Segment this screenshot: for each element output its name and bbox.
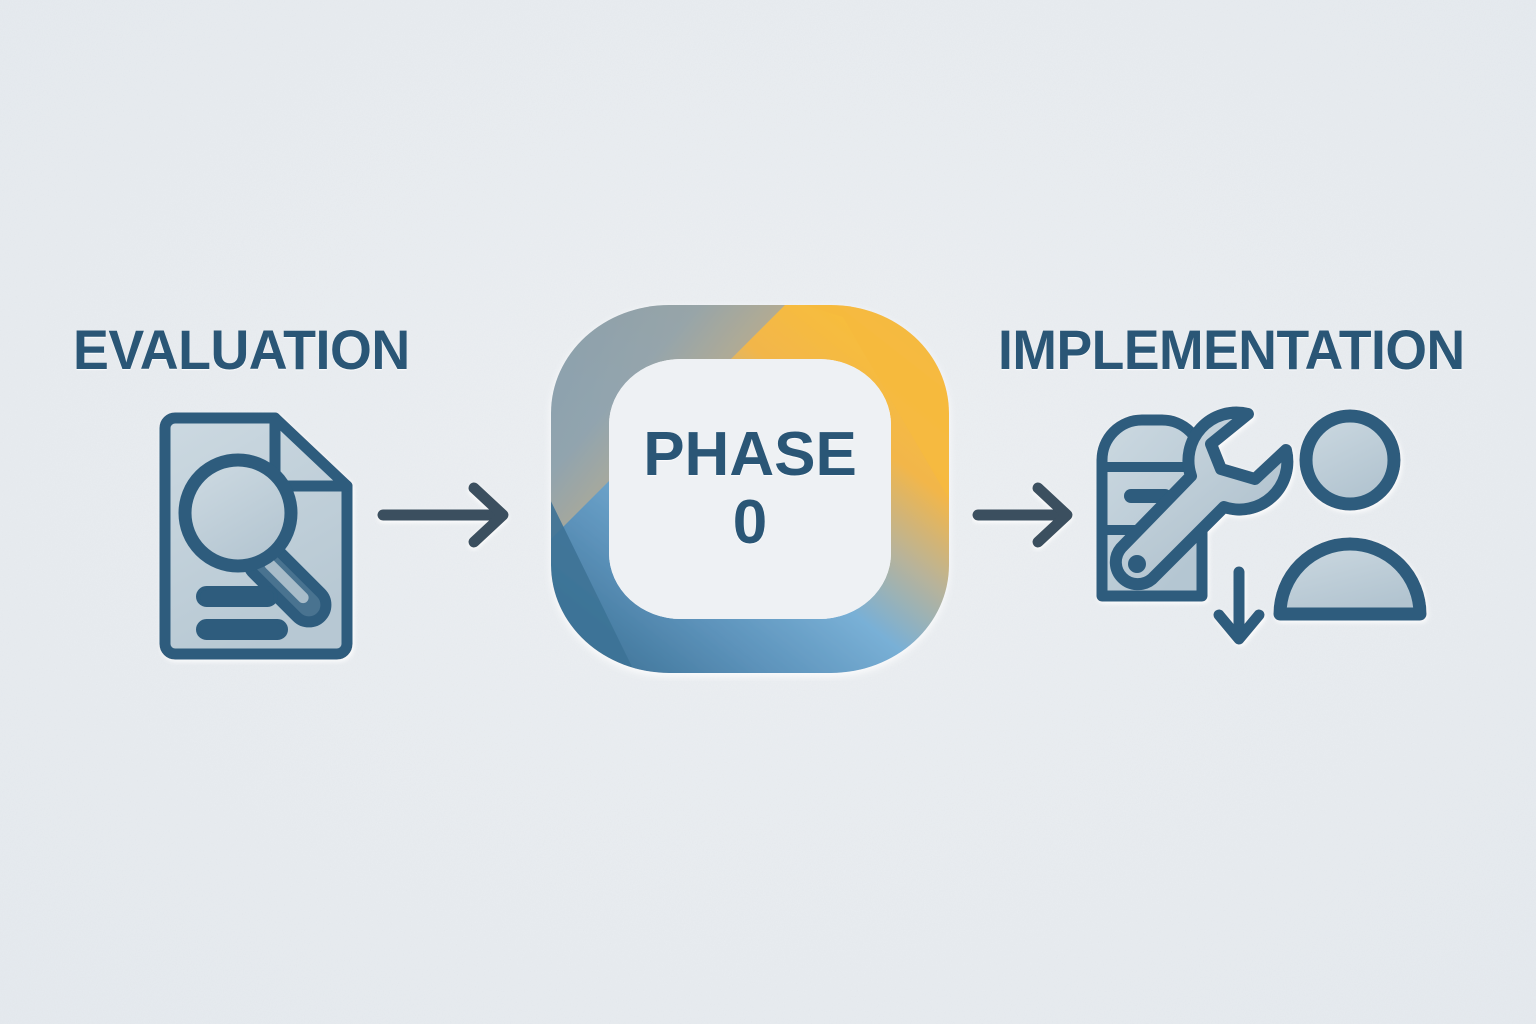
text-line <box>198 621 286 638</box>
server-wrench-user-icon <box>1088 400 1460 672</box>
document-magnifier-icon <box>150 400 370 665</box>
stage-label-implementation: IMPLEMENTATION <box>998 322 1465 378</box>
text-line <box>198 588 276 605</box>
down-arrow-icon <box>1219 572 1259 639</box>
arrow-right-icon <box>972 478 1084 552</box>
user-person-icon <box>1280 416 1420 614</box>
diagram-canvas: EVALUATION <box>0 0 1536 1024</box>
badge-inner-panel <box>609 359 891 619</box>
phase-badge-ring <box>543 297 957 681</box>
arrow-right-icon <box>375 478 520 552</box>
stage-label-evaluation: EVALUATION <box>73 322 410 378</box>
